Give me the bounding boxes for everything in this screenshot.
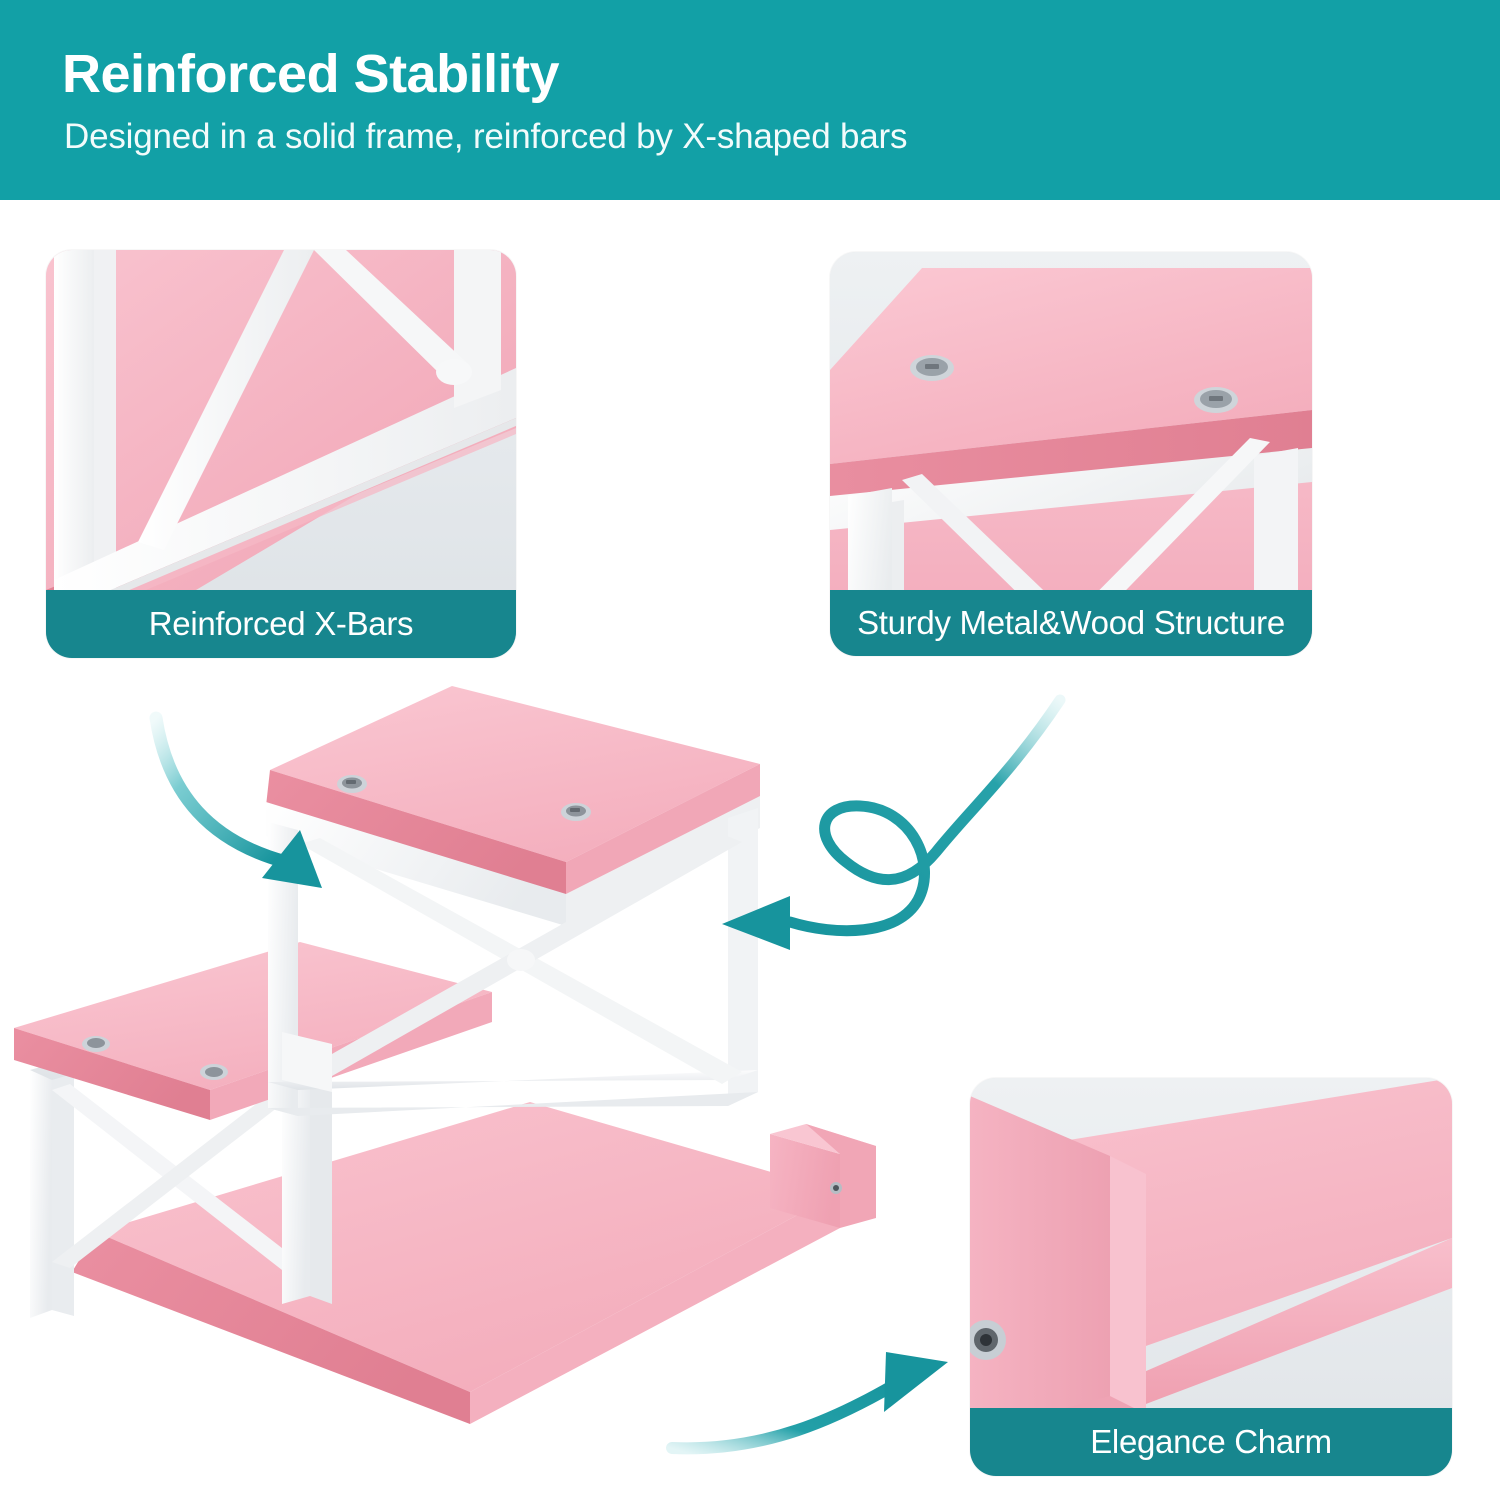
three-tier-shelf-illustration [0, 672, 900, 1472]
caption-reinforced-x-bars: Reinforced X-Bars [46, 590, 516, 658]
header-banner: Reinforced Stability Designed in a solid… [0, 0, 1500, 200]
feature-card-elegance-charm: Elegance Charm [970, 1078, 1452, 1476]
feature-card-reinforced-x-bars: Reinforced X-Bars [46, 250, 516, 658]
page-subtitle: Designed in a solid frame, reinforced by… [64, 118, 907, 157]
caption-metal-wood-structure: Sturdy Metal&Wood Structure [830, 590, 1312, 656]
feature-card-metal-wood-structure: Sturdy Metal&Wood Structure [830, 252, 1312, 656]
caption-elegance-charm: Elegance Charm [970, 1408, 1452, 1476]
product-image-side-table [0, 672, 900, 1472]
page-title: Reinforced Stability [62, 46, 559, 103]
